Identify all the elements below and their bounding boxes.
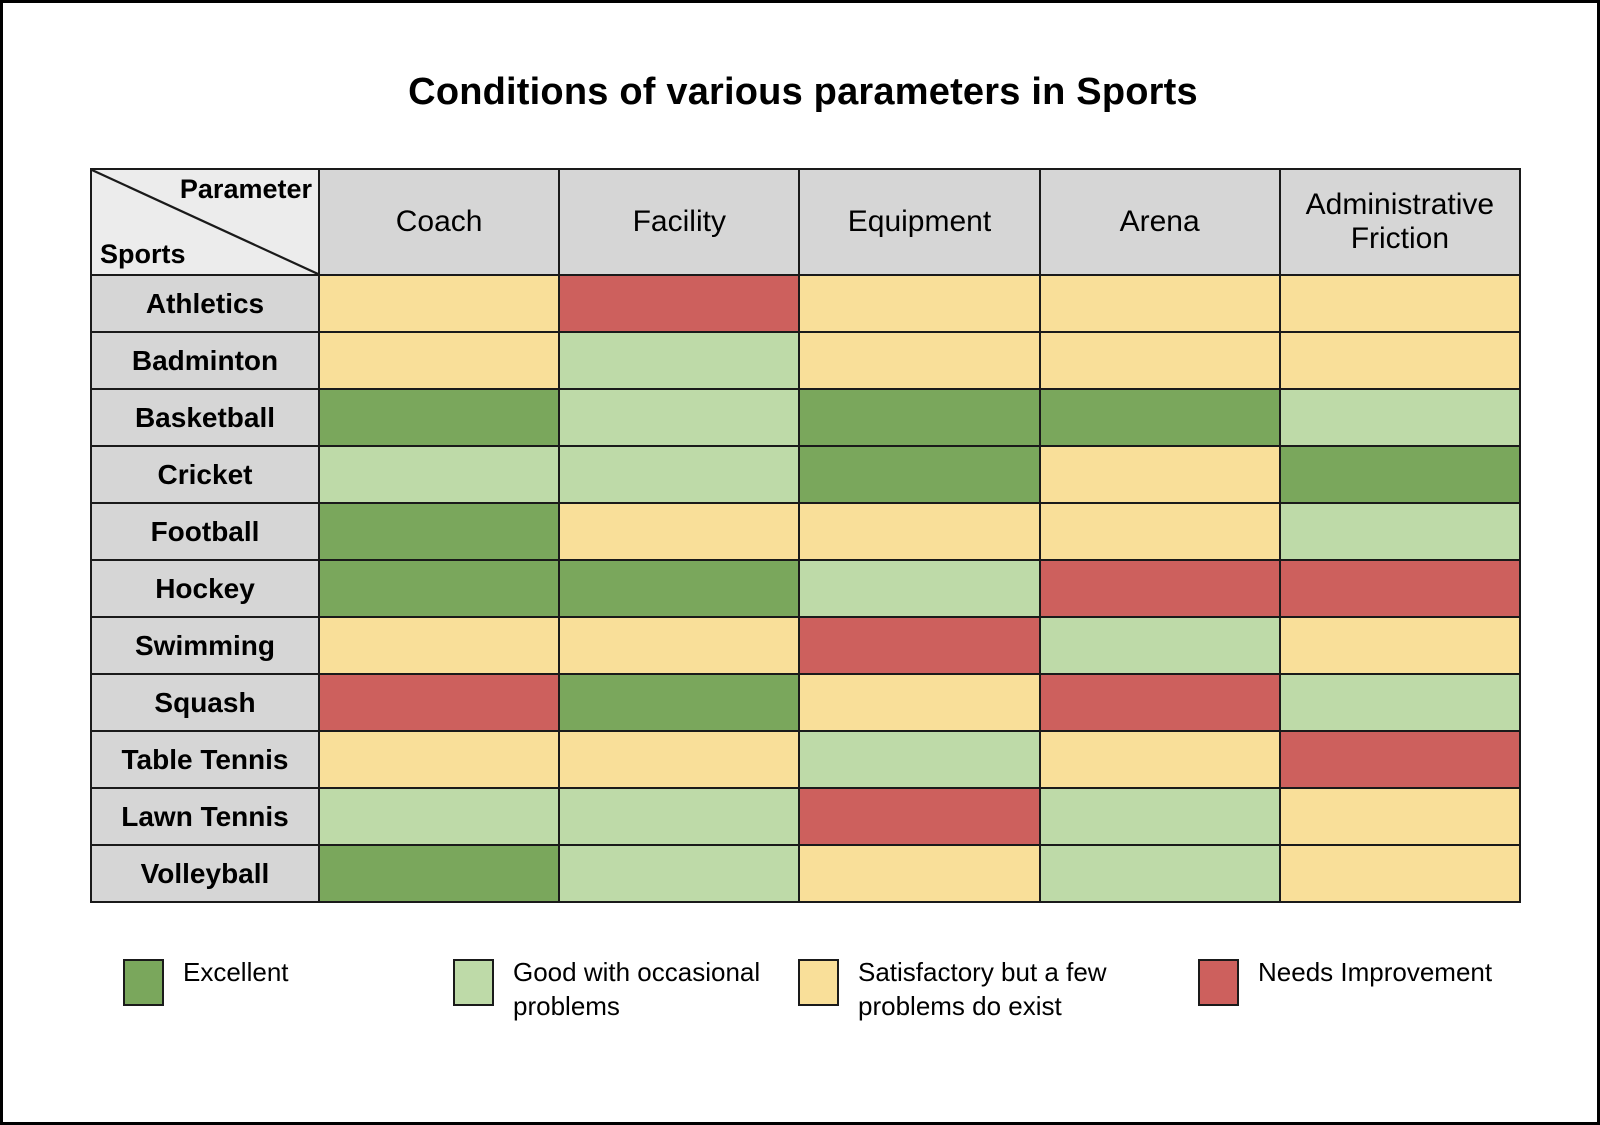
legend-label-excellent: Excellent	[183, 955, 289, 989]
heatmap-cell[interactable]	[799, 503, 1039, 560]
row-header-basketball: Basketball	[91, 389, 319, 446]
column-header-arena: Arena	[1040, 169, 1280, 275]
heatmap-cell[interactable]	[799, 389, 1039, 446]
heatmap-cell[interactable]	[319, 503, 559, 560]
legend-swatch-needs	[1198, 959, 1239, 1006]
table-row: Cricket	[91, 446, 1520, 503]
column-header-facility: Facility	[559, 169, 799, 275]
row-header-hockey: Hockey	[91, 560, 319, 617]
table-row: Volleyball	[91, 845, 1520, 902]
heatmap-cell[interactable]	[1040, 788, 1280, 845]
table-row: Table Tennis	[91, 731, 1520, 788]
table-row: Football	[91, 503, 1520, 560]
heatmap-cell[interactable]	[799, 332, 1039, 389]
legend-swatch-good	[453, 959, 494, 1006]
column-header-administrative-friction: Administrative Friction	[1280, 169, 1520, 275]
heatmap-matrix: Parameter Sports Coach Facility Equipmen…	[90, 168, 1521, 903]
row-header-table-tennis: Table Tennis	[91, 731, 319, 788]
heatmap-cell[interactable]	[1280, 788, 1520, 845]
heatmap-cell[interactable]	[1040, 275, 1280, 332]
heatmap-cell[interactable]	[1280, 503, 1520, 560]
row-header-cricket: Cricket	[91, 446, 319, 503]
row-header-badminton: Badminton	[91, 332, 319, 389]
heatmap-cell[interactable]	[1280, 275, 1520, 332]
row-axis-label: Sports	[100, 240, 186, 270]
legend-item-needs[interactable]: Needs Improvement	[1198, 955, 1498, 1006]
row-header-volleyball: Volleyball	[91, 845, 319, 902]
legend-label-needs: Needs Improvement	[1258, 955, 1492, 989]
heatmap-cell[interactable]	[319, 332, 559, 389]
column-axis-label: Parameter	[180, 175, 312, 205]
heatmap-cell[interactable]	[559, 617, 799, 674]
heatmap-cell[interactable]	[559, 674, 799, 731]
heatmap-cell[interactable]	[1040, 446, 1280, 503]
heatmap-cell[interactable]	[1040, 503, 1280, 560]
heatmap-cell[interactable]	[799, 617, 1039, 674]
heatmap-cell[interactable]	[319, 788, 559, 845]
row-header-football: Football	[91, 503, 319, 560]
table-row: Lawn Tennis	[91, 788, 1520, 845]
heatmap-cell[interactable]	[559, 275, 799, 332]
heatmap-cell[interactable]	[319, 845, 559, 902]
heatmap-cell[interactable]	[1040, 332, 1280, 389]
heatmap-cell[interactable]	[799, 731, 1039, 788]
legend: ExcellentGood with occasional problemsSa…	[123, 955, 1503, 1024]
table-row: Swimming	[91, 617, 1520, 674]
heatmap-cell[interactable]	[559, 560, 799, 617]
table-row: Hockey	[91, 560, 1520, 617]
heatmap-cell[interactable]	[799, 275, 1039, 332]
row-header-squash: Squash	[91, 674, 319, 731]
heatmap-cell[interactable]	[319, 674, 559, 731]
row-header-lawn-tennis: Lawn Tennis	[91, 788, 319, 845]
heatmap-cell[interactable]	[1280, 674, 1520, 731]
heatmap-cell[interactable]	[559, 503, 799, 560]
conditions-table: Parameter Sports Coach Facility Equipmen…	[90, 168, 1521, 903]
page-root: Conditions of various parameters in Spor…	[0, 0, 1600, 1125]
heatmap-cell[interactable]	[1040, 617, 1280, 674]
heatmap-cell[interactable]	[799, 788, 1039, 845]
heatmap-cell[interactable]	[799, 674, 1039, 731]
heatmap-cell[interactable]	[559, 845, 799, 902]
heatmap-cell[interactable]	[559, 731, 799, 788]
heatmap-cell[interactable]	[319, 275, 559, 332]
heatmap-cell[interactable]	[1280, 731, 1520, 788]
heatmap-cell[interactable]	[319, 731, 559, 788]
legend-swatch-excellent	[123, 959, 164, 1006]
heatmap-cell[interactable]	[1280, 332, 1520, 389]
heatmap-cell[interactable]	[1040, 845, 1280, 902]
heatmap-cell[interactable]	[319, 617, 559, 674]
heatmap-cell[interactable]	[559, 389, 799, 446]
table-body: AthleticsBadmintonBasketballCricketFootb…	[91, 275, 1520, 902]
heatmap-cell[interactable]	[559, 788, 799, 845]
corner-axis-cell: Parameter Sports	[91, 169, 319, 275]
legend-swatch-satisfactory	[798, 959, 839, 1006]
table-row: Basketball	[91, 389, 1520, 446]
heatmap-cell[interactable]	[1040, 560, 1280, 617]
heatmap-cell[interactable]	[1280, 560, 1520, 617]
column-header-equipment: Equipment	[799, 169, 1039, 275]
heatmap-cell[interactable]	[1280, 446, 1520, 503]
table-row: Athletics	[91, 275, 1520, 332]
row-header-swimming: Swimming	[91, 617, 319, 674]
table-row: Squash	[91, 674, 1520, 731]
heatmap-cell[interactable]	[319, 560, 559, 617]
page-title: Conditions of various parameters in Spor…	[3, 71, 1600, 114]
legend-item-satisfactory[interactable]: Satisfactory but a few problems do exist	[798, 955, 1198, 1024]
heatmap-cell[interactable]	[559, 446, 799, 503]
heatmap-cell[interactable]	[799, 446, 1039, 503]
legend-item-good[interactable]: Good with occasional problems	[453, 955, 798, 1024]
table-row: Badminton	[91, 332, 1520, 389]
heatmap-cell[interactable]	[1040, 674, 1280, 731]
legend-label-satisfactory: Satisfactory but a few problems do exist	[858, 955, 1128, 1024]
heatmap-cell[interactable]	[319, 389, 559, 446]
heatmap-cell[interactable]	[799, 845, 1039, 902]
heatmap-cell[interactable]	[1040, 731, 1280, 788]
row-header-athletics: Athletics	[91, 275, 319, 332]
heatmap-cell[interactable]	[319, 446, 559, 503]
column-header-coach: Coach	[319, 169, 559, 275]
heatmap-cell[interactable]	[1280, 617, 1520, 674]
heatmap-cell[interactable]	[799, 560, 1039, 617]
heatmap-cell[interactable]	[559, 332, 799, 389]
heatmap-cell[interactable]	[1280, 389, 1520, 446]
header-row: Parameter Sports Coach Facility Equipmen…	[91, 169, 1520, 275]
heatmap-cell[interactable]	[1280, 845, 1520, 902]
table-header: Parameter Sports Coach Facility Equipmen…	[91, 169, 1520, 275]
heatmap-cell[interactable]	[1040, 389, 1280, 446]
legend-item-excellent[interactable]: Excellent	[123, 955, 453, 1006]
legend-label-good: Good with occasional problems	[513, 955, 783, 1024]
